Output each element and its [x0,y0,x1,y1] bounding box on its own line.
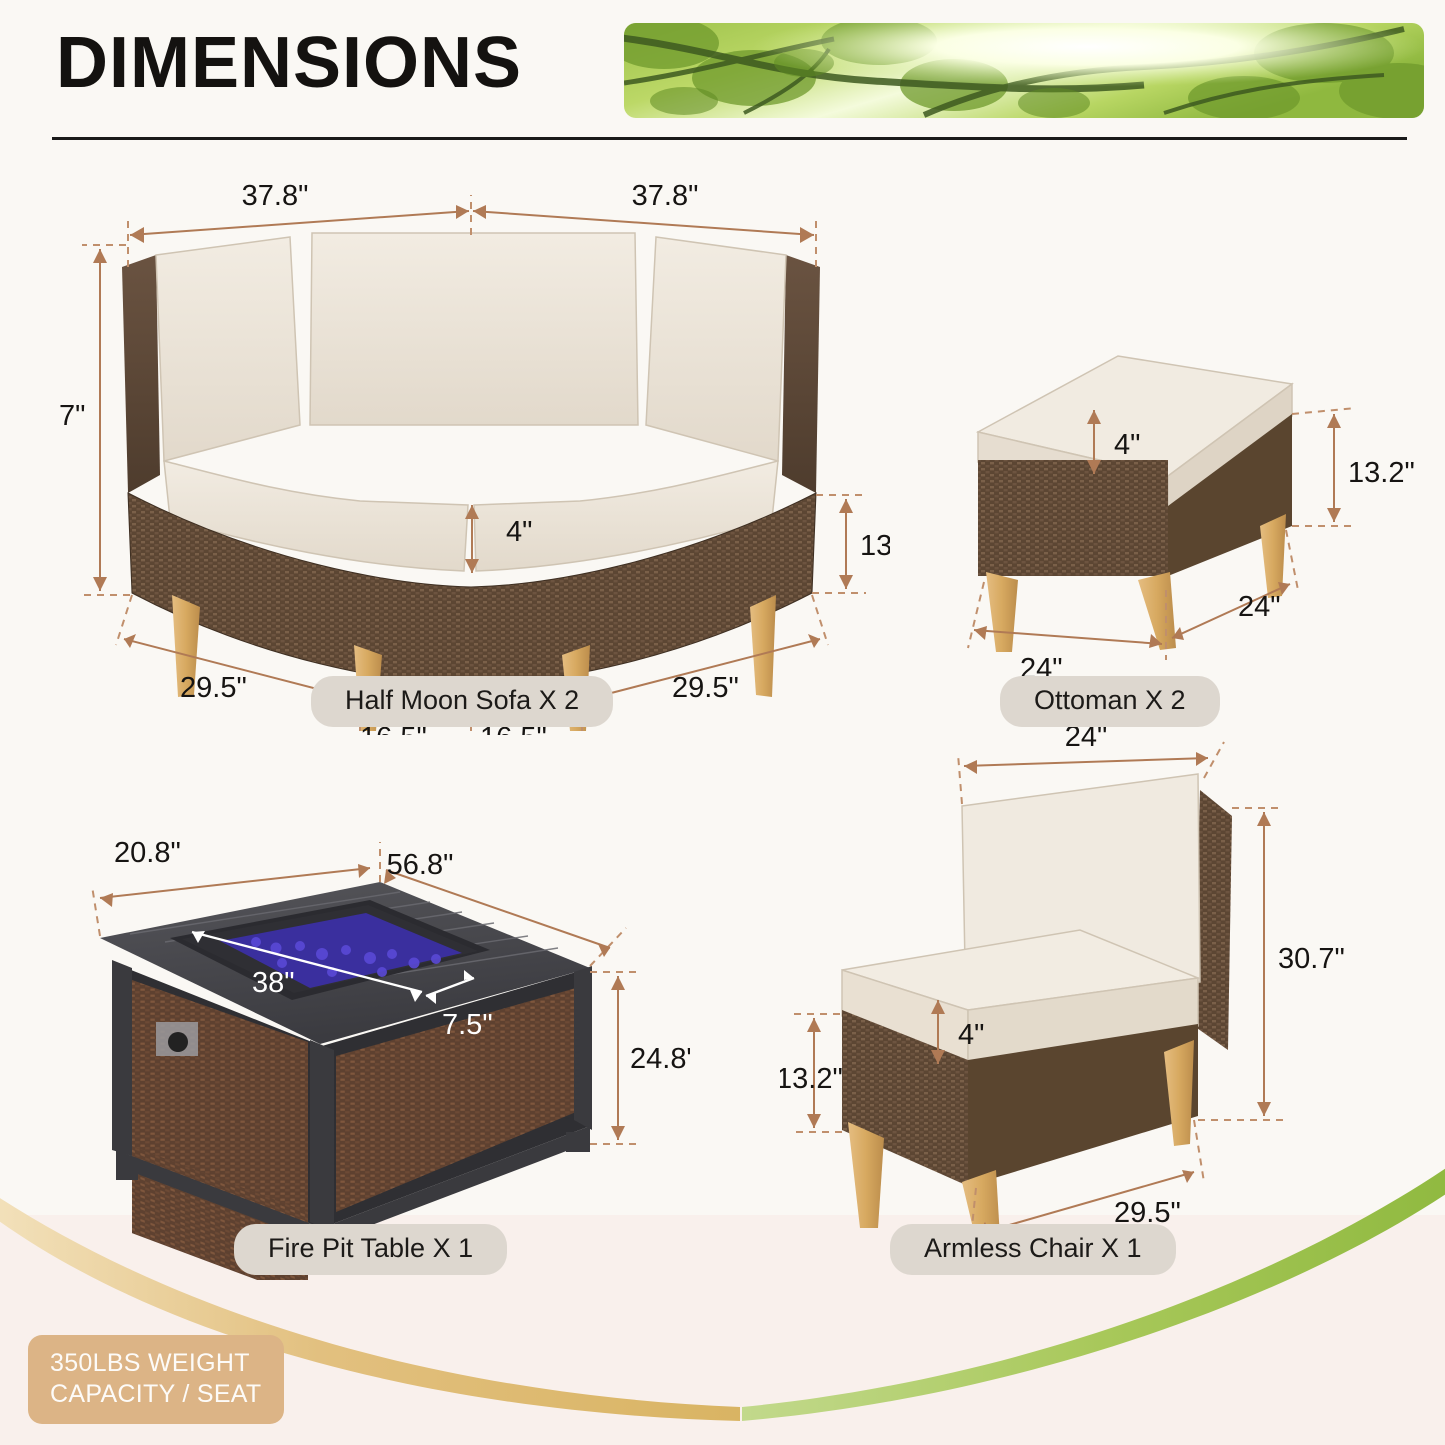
product-panel-armless-chair: 24" 30.7" 4" 13.2" 29.5" [780,720,1420,1280]
dim-sofa-cushion: 4" [506,516,532,548]
half-moon-sofa-figure: 37.8" 37.8" 30.7" 4" 13.2" [60,175,890,735]
weight-capacity-line1: 350LBS WEIGHT [50,1348,262,1379]
dim-chair-height: 30.7" [1278,943,1345,975]
product-label-armless-chair: Armless Chair X 1 [890,1224,1176,1275]
weight-capacity-line2: CAPACITY / SEAT [50,1379,262,1410]
dim-sofa-back-right: 37.8" [632,180,699,212]
product-panel-fire-pit-table: 20.8" 56.8" 38" 7.5" 24.8" [70,820,690,1280]
dim-firepit-height: 24.8" [630,1043,690,1075]
dim-sofa-seat-height: 13.2" [860,530,890,562]
dim-sofa-back-left: 37.8" [242,180,309,212]
dim-sofa-height: 30.7" [60,400,85,432]
dim-firepit-length: 56.8" [387,849,454,881]
product-label-fire-pit-table: Fire Pit Table X 1 [234,1224,507,1275]
page-title: DIMENSIONS [56,22,522,104]
product-panel-ottoman: 4" 13.2" 24" 24" [900,300,1420,735]
fire-pit-table-figure: 20.8" 56.8" 38" 7.5" 24.8" [70,820,690,1280]
product-label-half-moon-sofa: Half Moon Sofa X 2 [311,676,613,727]
product-label-ottoman: Ottoman X 2 [1000,676,1220,727]
header-divider [52,137,1407,140]
dim-firepit-depth: 20.8" [114,837,181,869]
page-header: DIMENSIONS [0,0,1445,150]
dim-firepit-burner-width: 7.5" [442,1009,493,1041]
tree-canopy-banner [624,23,1424,118]
dim-ottoman-cushion: 4" [1114,429,1140,461]
dim-firepit-burner-length: 38" [252,967,295,999]
dim-chair-cushion: 4" [958,1019,984,1051]
dim-ottoman-seat-height: 13.2" [1348,457,1415,489]
ottoman-figure: 4" 13.2" 24" 24" [900,300,1420,735]
dim-ottoman-depth: 24" [1238,591,1281,623]
dim-chair-seat-height: 13.2" [780,1063,843,1095]
dim-sofa-depth-left: 29.5" [180,672,247,704]
armless-chair-figure: 24" 30.7" 4" 13.2" 29.5" [780,720,1420,1280]
dim-sofa-depth-right: 29.5" [672,672,739,704]
weight-capacity-badge: 350LBS WEIGHT CAPACITY / SEAT [28,1335,284,1424]
product-panel-half-moon-sofa: 37.8" 37.8" 30.7" 4" 13.2" [60,175,890,735]
